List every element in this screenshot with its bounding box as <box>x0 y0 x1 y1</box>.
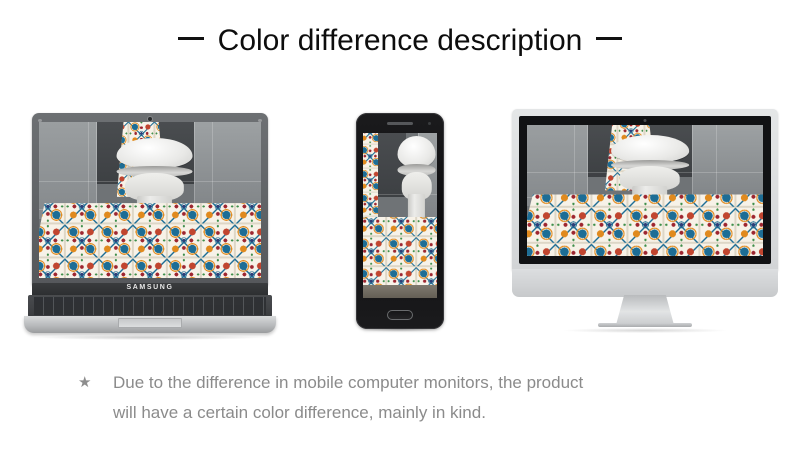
laptop-webcam-icon <box>148 117 152 121</box>
device-showcase: SAMSUNG <box>0 105 800 350</box>
laptop-keys <box>34 297 266 315</box>
tile-sticker-floor <box>527 194 763 256</box>
photo-wall-left <box>527 125 588 206</box>
title-right-rule-icon <box>596 37 622 40</box>
photo-wall-right <box>194 122 261 216</box>
phone-earpiece-icon <box>387 122 413 125</box>
laptop-drop-shadow <box>38 335 262 340</box>
color-difference-description-page: Color difference description <box>0 0 800 450</box>
monitor-stand-base <box>598 323 692 327</box>
phone-home-button[interactable] <box>387 310 413 320</box>
title-left-rule-icon <box>178 37 204 40</box>
tile-sticker-floor <box>363 217 437 285</box>
monitor-screen <box>527 125 763 256</box>
monitor-drop-shadow <box>564 328 726 333</box>
monitor-frame <box>512 109 778 271</box>
laptop-keyboard <box>28 295 272 317</box>
tile-sticker-runner <box>363 133 378 227</box>
photo-grout-line <box>716 125 717 206</box>
disclaimer-note: ★ Due to the difference in mobile comput… <box>78 368 738 428</box>
laptop-palmrest <box>24 316 276 333</box>
laptop-screen <box>39 122 261 278</box>
phone-drop-shadow <box>362 327 438 332</box>
photo-wall-right <box>692 125 763 204</box>
photo-grout-line <box>574 125 575 206</box>
phone-screen <box>363 133 437 285</box>
monitor-chin <box>512 269 778 297</box>
device-monitor <box>512 109 778 341</box>
phone-front-camera-icon <box>428 122 431 125</box>
toilet-lid <box>397 136 435 168</box>
page-title: Color difference description <box>0 24 800 58</box>
laptop-trackpad <box>118 318 182 328</box>
monitor-bezel <box>519 116 771 264</box>
disclaimer-text-line-1: Due to the difference in mobile computer… <box>113 368 583 398</box>
disclaimer-text-line-2: will have a certain color difference, ma… <box>113 398 486 428</box>
star-bullet-icon: ★ <box>78 368 113 398</box>
laptop-base: SAMSUNG <box>24 283 276 337</box>
laptop-brand-logo: SAMSUNG <box>127 284 174 291</box>
device-laptop: SAMSUNG <box>24 113 276 341</box>
disclaimer-line-1: ★ Due to the difference in mobile comput… <box>78 368 738 398</box>
monitor-stand-neck <box>616 295 674 325</box>
page-title-text: Color difference description <box>218 24 583 58</box>
device-smartphone <box>356 113 444 329</box>
tile-sticker-floor <box>39 203 261 278</box>
monitor-camera-icon <box>644 119 647 122</box>
laptop-lid <box>32 113 268 285</box>
toilet-lid <box>117 138 192 170</box>
disclaimer-line-2: will have a certain color difference, ma… <box>78 398 738 428</box>
phone-screen-bottom-strip <box>363 285 437 298</box>
